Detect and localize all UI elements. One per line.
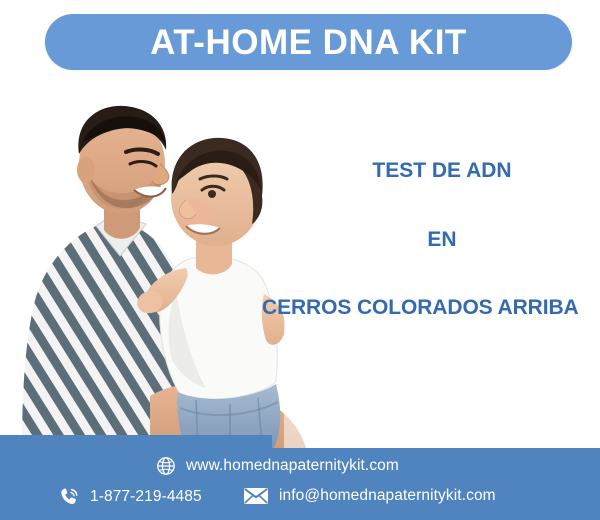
phone-label: 1-877-219-4485: [90, 488, 202, 506]
website-label: www.homednapaternitykit.com: [186, 457, 399, 475]
banner-title: AT-HOME DNA KIT: [150, 25, 467, 60]
globe-icon: [156, 456, 176, 476]
footer-website-row[interactable]: www.homednapaternitykit.com: [156, 456, 399, 476]
footer-email-row[interactable]: info@homednapaternitykit.com: [243, 486, 496, 506]
footer-contact-info: www.homednapaternitykit.com 1-877-219-44…: [0, 448, 600, 520]
envelope-icon: [243, 486, 269, 506]
headline-line-2: EN: [262, 229, 600, 250]
promo-flyer: AT-HOME DNA KIT: [0, 0, 600, 520]
headline-line-1: TEST DE ADN: [262, 160, 600, 181]
headline-block: TEST DE ADN EN CERROS COLORADOS ARRIBA: [262, 160, 600, 318]
email-label: info@homednapaternitykit.com: [279, 487, 496, 505]
footer-phone-row[interactable]: 1-877-219-4485: [58, 486, 202, 508]
phone-icon: [58, 486, 80, 508]
header-banner: AT-HOME DNA KIT: [45, 14, 572, 70]
headline-line-3-location: CERROS COLORADOS ARRIBA: [262, 297, 600, 318]
